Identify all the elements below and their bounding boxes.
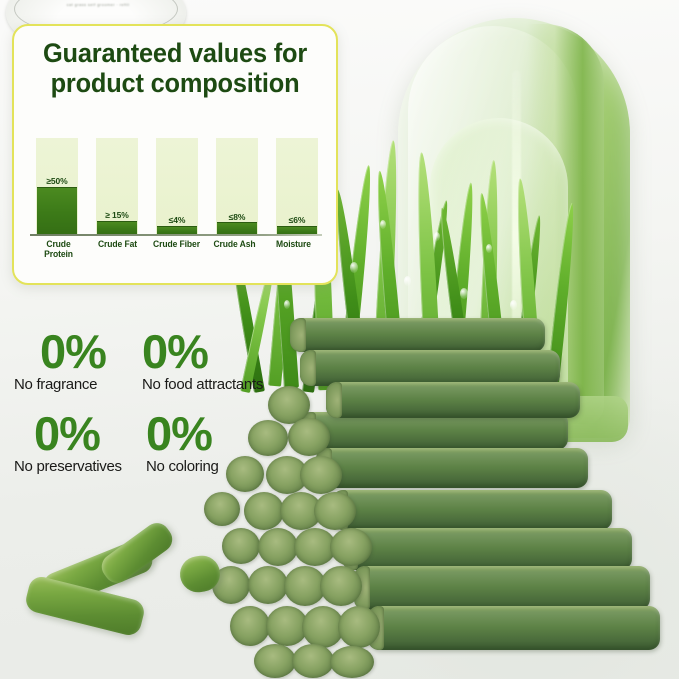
- bar-column-moisture[interactable]: ≤6%: [276, 138, 318, 234]
- bar-value-label: ≥ 15%: [96, 210, 138, 220]
- chart-plot-area: ≥50% ≥ 15% ≤4% ≤8%: [36, 138, 318, 234]
- bar-fill: [217, 222, 257, 234]
- bar-value-label: ≤8%: [216, 212, 258, 222]
- claim-value: 0%: [14, 328, 124, 376]
- bar-value-label: ≤4%: [156, 215, 198, 225]
- category-label-crude-ash: Crude Ash: [208, 239, 262, 259]
- claim-value: 0%: [14, 410, 124, 458]
- bar-column-crude-fat[interactable]: ≥ 15%: [96, 138, 138, 234]
- bar-fill: [37, 187, 77, 234]
- bar-fill: [157, 226, 197, 234]
- bar-fill: [97, 221, 137, 234]
- bar-fill: [277, 226, 317, 234]
- claim-label: No fragrance: [14, 376, 124, 393]
- claim-no-preservatives: 0% No preservatives: [14, 410, 124, 492]
- category-label-crude-fiber: Crude Fiber: [149, 239, 203, 259]
- claim-label: No coloring: [124, 458, 262, 475]
- bar-column-crude-fiber[interactable]: ≤4%: [156, 138, 198, 234]
- claim-no-food-attractants: 0% No food attractants: [124, 328, 262, 410]
- category-label-moisture: Moisture: [266, 239, 320, 259]
- category-label-crude-fat: Crude Fat: [90, 239, 144, 259]
- composition-bar-chart: ≥50% ≥ 15% ≤4% ≤8%: [30, 138, 322, 272]
- card-title: Guaranteed values for product compositio…: [24, 38, 327, 98]
- claim-label: No preservatives: [14, 458, 124, 475]
- product-infographic: cat grass self groomer · refill: [0, 0, 679, 679]
- claim-no-fragrance: 0% No fragrance: [14, 328, 124, 410]
- card-title-line-2: product composition: [24, 68, 327, 98]
- composition-card: Guaranteed values for product compositio…: [12, 24, 338, 285]
- bar-column-crude-protein[interactable]: ≥50%: [36, 138, 78, 234]
- bar-value-label: ≤6%: [276, 215, 318, 225]
- card-title-line-1: Guaranteed values for: [24, 38, 327, 68]
- claim-value: 0%: [124, 410, 262, 458]
- chart-category-labels: Crude Protein Crude Fat Crude Fiber Crud…: [30, 239, 322, 259]
- claim-value: 0%: [124, 328, 262, 376]
- claim-label: No food attractants: [124, 376, 262, 393]
- category-label-crude-protein: Crude Protein: [31, 239, 85, 259]
- zero-claims-grid: 0% No fragrance 0% No food attractants 0…: [14, 328, 264, 492]
- bar-value-label: ≥50%: [36, 176, 78, 186]
- claim-no-coloring: 0% No coloring: [124, 410, 262, 492]
- bar-column-crude-ash[interactable]: ≤8%: [216, 138, 258, 234]
- chart-baseline-axis: [30, 234, 322, 236]
